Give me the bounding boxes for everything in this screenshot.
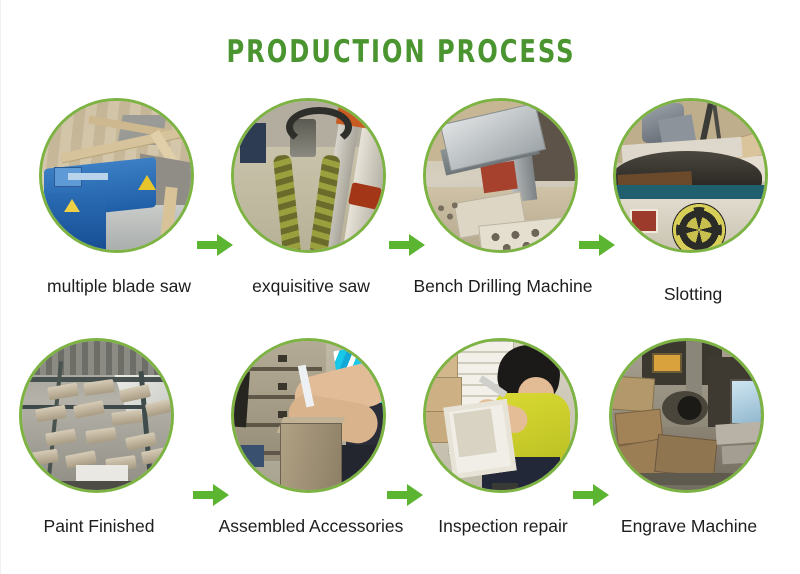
arrow-right-icon: [573, 484, 609, 506]
arrow-right-icon: [389, 234, 425, 256]
process-step-engrave-machine[interactable]: Engrave Machine: [609, 338, 769, 493]
step-photo-circle: [231, 98, 386, 253]
photo-slotting-machine: [616, 101, 765, 250]
step-label: Paint Finished: [0, 516, 201, 537]
process-row-1: multiple blade saw exquisitive saw: [1, 98, 800, 338]
photo-engraving-machine: [612, 341, 761, 490]
step-photo-circle: [609, 338, 764, 493]
arrow-right-icon: [579, 234, 615, 256]
step-photo-circle: [231, 338, 386, 493]
process-step-exquisitive-saw[interactable]: exquisitive saw: [231, 98, 391, 253]
step-label: Assembled Accessories: [209, 516, 413, 537]
step-photo-circle: [39, 98, 194, 253]
process-step-inspection-repair[interactable]: Inspection repair: [423, 338, 583, 493]
step-label: Engrave Machine: [587, 516, 791, 537]
photo-blue-multi-blade-saw: [42, 101, 191, 250]
photo-bench-drill-press: [426, 101, 575, 250]
step-label: Slotting: [591, 284, 795, 305]
page-title: PRODUCTION PROCESS: [89, 34, 713, 70]
step-photo-circle: [423, 98, 578, 253]
arrow-right-icon: [197, 234, 233, 256]
arrow-right-icon: [387, 484, 423, 506]
process-step-paint-finished[interactable]: Paint Finished: [19, 338, 179, 493]
production-process-infographic: PRODUCTION PROCESS multiple blade saw: [0, 0, 800, 574]
step-label: Inspection repair: [401, 516, 605, 537]
photo-cnc-precision-saw: [234, 101, 383, 250]
arrow-right-icon: [193, 484, 229, 506]
step-label: multiple blade saw: [17, 276, 221, 297]
step-photo-circle: [19, 338, 174, 493]
photo-worker-assembling-hardware: [234, 341, 383, 490]
photo-paint-drying-racks: [22, 341, 171, 490]
process-step-multiple-blade-saw[interactable]: multiple blade saw: [39, 98, 199, 253]
step-photo-circle: [613, 98, 768, 253]
process-step-slotting[interactable]: Slotting: [613, 98, 773, 253]
process-row-2: Paint Finished Assembled Accessories: [1, 338, 800, 574]
process-step-assembled-accessories[interactable]: Assembled Accessories: [231, 338, 391, 493]
step-label: exquisitive saw: [209, 276, 413, 297]
process-step-bench-drilling-machine[interactable]: Bench Drilling Machine: [423, 98, 583, 253]
step-label: Bench Drilling Machine: [401, 276, 605, 297]
step-photo-circle: [423, 338, 578, 493]
photo-worker-inspecting-frame: [426, 341, 575, 490]
